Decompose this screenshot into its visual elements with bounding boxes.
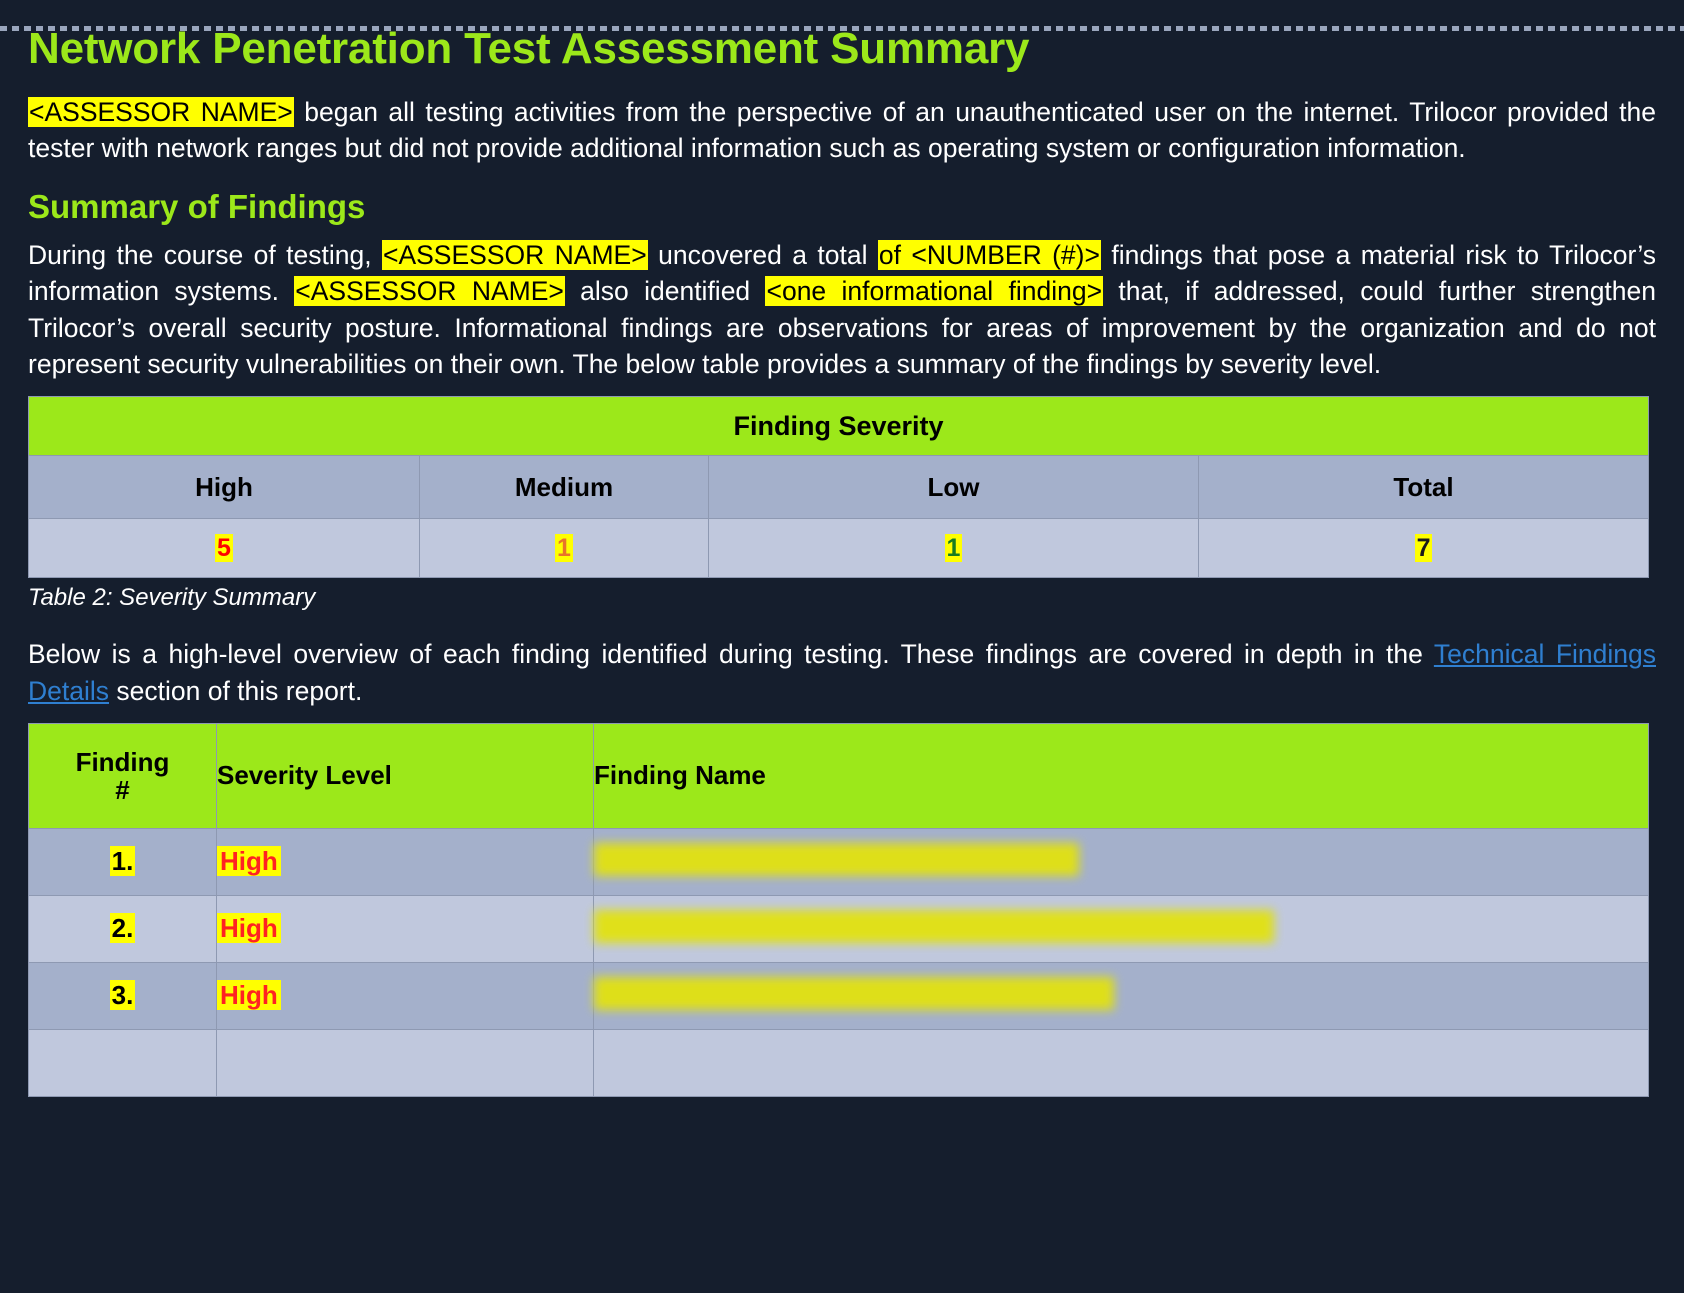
- table-row[interactable]: 2. High: [29, 895, 1649, 962]
- status-badge: High: [217, 913, 281, 943]
- findings-table-header-row: Finding# Severity Level Finding Name: [29, 723, 1649, 828]
- finding-number: 3.: [110, 980, 136, 1010]
- redacted-finding-name: [594, 843, 1079, 876]
- table-row[interactable]: 1. High: [29, 828, 1649, 895]
- findings-header-finding-name: Finding Name: [594, 723, 1649, 828]
- severity-header-medium: Medium: [420, 456, 709, 519]
- severity-table-banner: Finding Severity: [29, 397, 1649, 456]
- assessor-name-placeholder: <ASSESSOR NAME>: [382, 240, 648, 270]
- finding-name-cell: [594, 895, 1649, 962]
- document-page: Network Penetration Test Assessment Summ…: [0, 26, 1684, 1293]
- finding-number-cell: 1.: [29, 828, 217, 895]
- finding-number-cell: 2.: [29, 895, 217, 962]
- severity-value-total: 7: [1415, 534, 1433, 562]
- section-heading-summary-of-findings: Summary of Findings: [28, 189, 1656, 225]
- severity-value-low-cell: 1: [709, 519, 1199, 578]
- finding-severity-cell: High: [217, 962, 594, 1029]
- findings-header-severity-level: Severity Level: [217, 723, 594, 828]
- findings-overview-table: Finding# Severity Level Finding Name 1. …: [28, 723, 1649, 1097]
- findings-paragraph-part-a: During the course of testing,: [28, 240, 382, 270]
- severity-value-medium: 1: [555, 534, 573, 562]
- finding-severity-cell: High: [217, 895, 594, 962]
- finding-name-cell: [594, 828, 1649, 895]
- finding-severity-cell: High: [217, 828, 594, 895]
- table-row[interactable]: 3. High: [29, 962, 1649, 1029]
- finding-number: 1.: [110, 846, 136, 876]
- finding-number: 2.: [110, 913, 136, 943]
- assessor-name-placeholder: <ASSESSOR NAME>: [294, 276, 565, 306]
- status-badge: High: [217, 980, 281, 1010]
- redacted-finding-name: [594, 910, 1274, 943]
- findings-header-number-line1: Finding: [76, 747, 170, 777]
- severity-table-banner-row: Finding Severity: [29, 397, 1649, 456]
- findings-paragraph-part-d: also identified: [565, 276, 766, 306]
- severity-header-total: Total: [1199, 456, 1649, 519]
- findings-header-number-line2: #: [115, 775, 129, 805]
- number-placeholder: of <NUMBER (#)>: [878, 240, 1101, 270]
- assessor-name-placeholder: <ASSESSOR NAME>: [28, 97, 294, 127]
- findings-overview-part-a: Below is a high-level overview of each f…: [28, 639, 1434, 669]
- findings-overview-part-b: section of this report.: [109, 676, 362, 706]
- table-row[interactable]: [29, 1029, 1649, 1096]
- severity-value-medium-cell: 1: [420, 519, 709, 578]
- severity-header-high: High: [29, 456, 420, 519]
- severity-value-high: 5: [215, 534, 233, 562]
- page-break-divider: [0, 26, 1684, 31]
- finding-name-cell: [594, 962, 1649, 1029]
- severity-table-header-row: High Medium Low Total: [29, 456, 1649, 519]
- findings-overview-paragraph: Below is a high-level overview of each f…: [28, 636, 1656, 709]
- severity-table-value-row: 5 1 1 7: [29, 519, 1649, 578]
- severity-value-total-cell: 7: [1199, 519, 1649, 578]
- severity-header-low: Low: [709, 456, 1199, 519]
- page-title: Network Penetration Test Assessment Summ…: [28, 26, 1656, 72]
- finding-number-cell: 3.: [29, 962, 217, 1029]
- finding-name-cell: [594, 1029, 1649, 1096]
- severity-value-low: 1: [945, 534, 963, 562]
- status-badge: High: [217, 846, 281, 876]
- findings-paragraph-part-b: uncovered a total: [648, 240, 878, 270]
- severity-value-high-cell: 5: [29, 519, 420, 578]
- redacted-finding-name: [594, 977, 1114, 1010]
- table-caption-severity-summary: Table 2: Severity Summary: [28, 584, 1656, 612]
- intro-paragraph: <ASSESSOR NAME> began all testing activi…: [28, 94, 1656, 167]
- finding-severity-cell: [217, 1029, 594, 1096]
- findings-summary-paragraph: During the course of testing, <ASSESSOR …: [28, 237, 1656, 382]
- informational-finding-placeholder: <one informational finding>: [765, 276, 1103, 306]
- severity-summary-table: Finding Severity High Medium Low Total 5…: [28, 396, 1649, 578]
- findings-header-number: Finding#: [29, 723, 217, 828]
- finding-number-cell: [29, 1029, 217, 1096]
